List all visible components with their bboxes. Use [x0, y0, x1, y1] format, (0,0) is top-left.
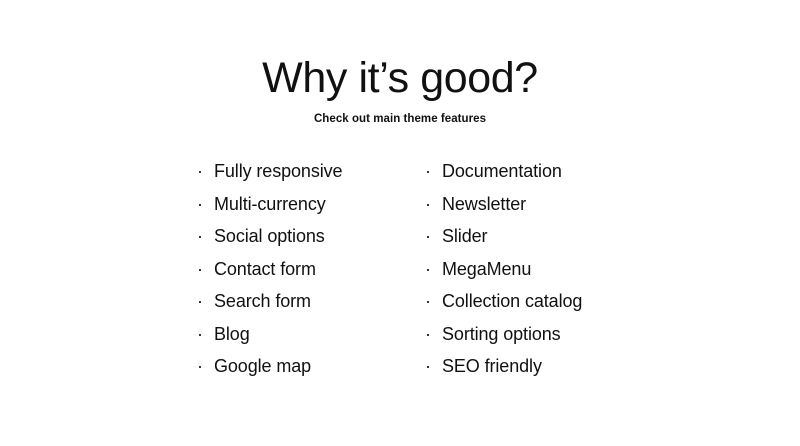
feature-label: Blog	[214, 318, 250, 351]
feature-label: Social options	[214, 220, 325, 253]
list-item: · SEO friendly	[425, 350, 665, 383]
list-item: · Contact form	[197, 253, 425, 286]
bullet-dot-icon: ·	[425, 253, 442, 286]
list-item: · MegaMenu	[425, 253, 665, 286]
list-item: · Social options	[197, 220, 425, 253]
list-item: · Blog	[197, 318, 425, 351]
list-item: · Search form	[197, 285, 425, 318]
bullet-dot-icon: ·	[197, 350, 214, 383]
feature-label: SEO friendly	[442, 350, 542, 383]
bullet-dot-icon: ·	[197, 155, 214, 188]
list-item: · Newsletter	[425, 188, 665, 221]
list-item: · Documentation	[425, 155, 665, 188]
feature-label: Fully responsive	[214, 155, 342, 188]
list-item: · Fully responsive	[197, 155, 425, 188]
feature-label: Sorting options	[442, 318, 561, 351]
features-column-left: · Fully responsive · Multi-currency · So…	[197, 155, 425, 383]
feature-label: Documentation	[442, 155, 562, 188]
features-column-right: · Documentation · Newsletter · Slider · …	[425, 155, 665, 383]
feature-label: Multi-currency	[214, 188, 326, 221]
bullet-dot-icon: ·	[425, 350, 442, 383]
bullet-dot-icon: ·	[425, 285, 442, 318]
feature-label: Collection catalog	[442, 285, 582, 318]
list-item: · Google map	[197, 350, 425, 383]
bullet-dot-icon: ·	[197, 285, 214, 318]
list-item: · Sorting options	[425, 318, 665, 351]
feature-label: Slider	[442, 220, 487, 253]
feature-label: Contact form	[214, 253, 316, 286]
bullet-dot-icon: ·	[197, 220, 214, 253]
feature-label: Google map	[214, 350, 311, 383]
page-title: Why it’s good?	[0, 52, 800, 104]
bullet-dot-icon: ·	[425, 188, 442, 221]
bullet-dot-icon: ·	[425, 220, 442, 253]
bullet-dot-icon: ·	[425, 318, 442, 351]
list-item: · Slider	[425, 220, 665, 253]
bullet-dot-icon: ·	[197, 318, 214, 351]
bullet-dot-icon: ·	[197, 188, 214, 221]
list-item: · Multi-currency	[197, 188, 425, 221]
heading-block: Why it’s good? Check out main theme feat…	[0, 52, 800, 126]
feature-label: MegaMenu	[442, 253, 531, 286]
features-slide: Why it’s good? Check out main theme feat…	[0, 0, 800, 446]
list-item: · Collection catalog	[425, 285, 665, 318]
features-list: · Fully responsive · Multi-currency · So…	[197, 155, 665, 383]
bullet-dot-icon: ·	[197, 253, 214, 286]
feature-label: Search form	[214, 285, 311, 318]
feature-label: Newsletter	[442, 188, 526, 221]
page-subtitle: Check out main theme features	[0, 112, 800, 126]
bullet-dot-icon: ·	[425, 155, 442, 188]
